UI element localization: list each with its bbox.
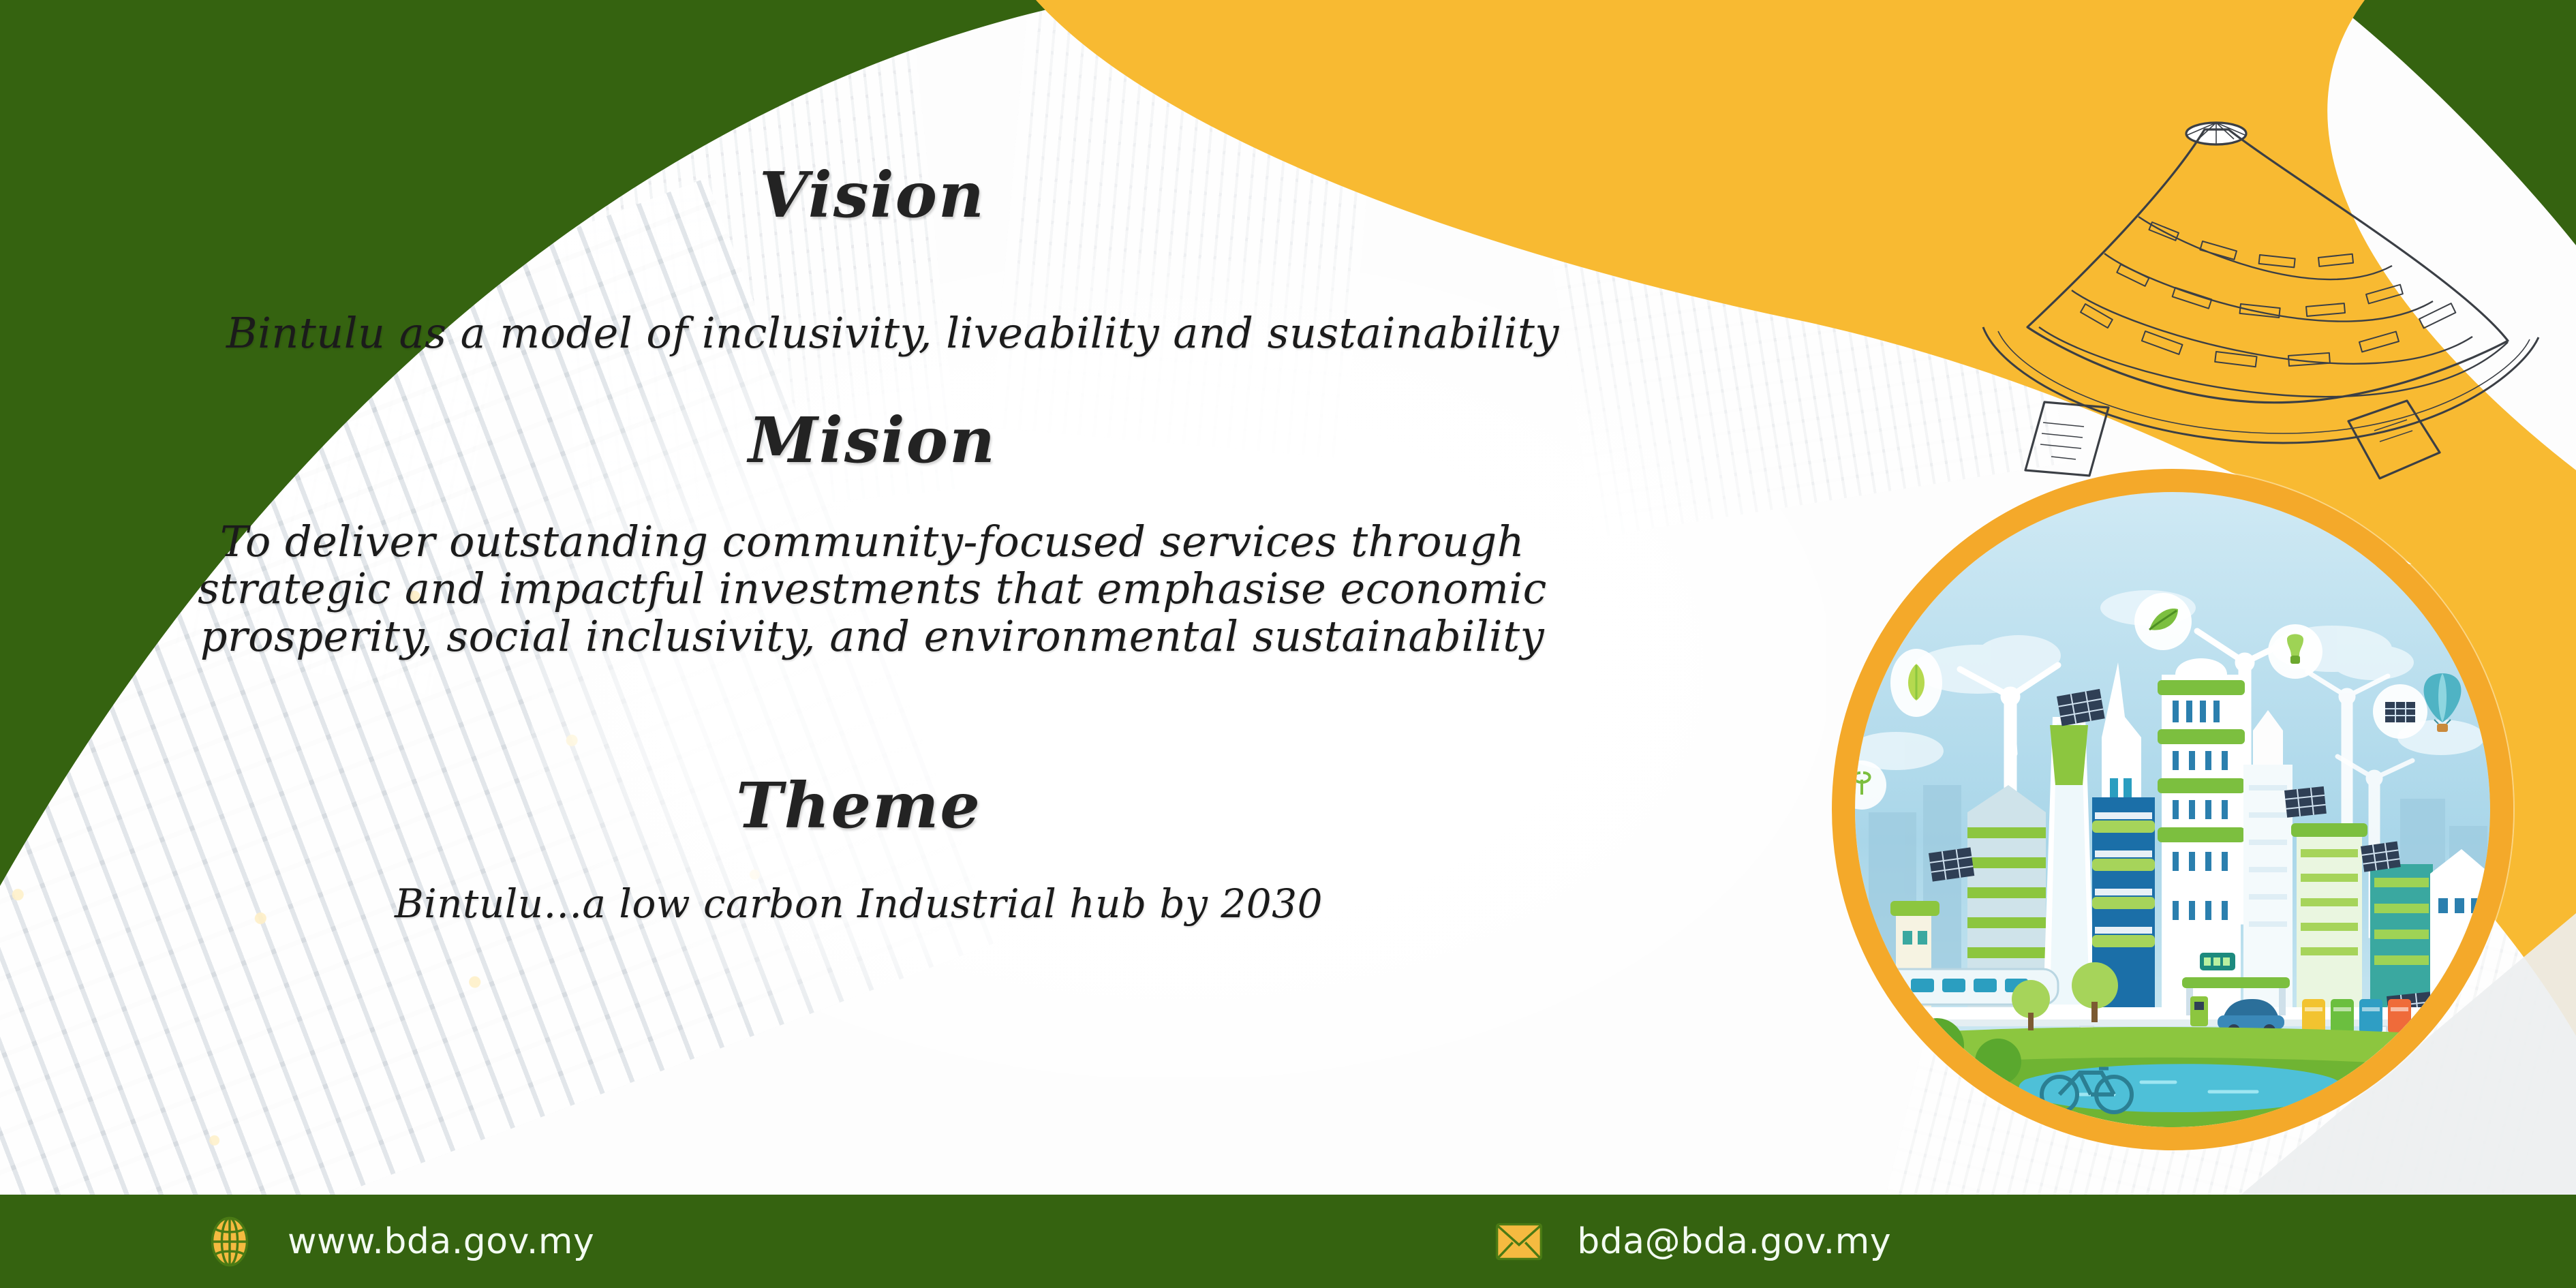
monument-windows [2081, 222, 2455, 367]
monument-tier-3 [2072, 290, 2472, 364]
website-contact[interactable]: www.bda.gov.my [204, 1216, 594, 1267]
vision-body: Bintulu as a model of inclusivity, livea… [0, 308, 1785, 358]
monument-tier-2 [2104, 254, 2433, 322]
theme-heading: Theme [0, 769, 1717, 842]
monument-building-icon [1963, 102, 2549, 484]
theme-body: Bintulu...a low carbon Industrial hub by… [0, 880, 1717, 927]
monument-base-rim [1983, 327, 2539, 443]
monument-cone [2027, 129, 2508, 403]
monument-leg-right [2348, 401, 2440, 478]
mission-body: To deliver outstanding community-focused… [0, 518, 1745, 660]
mission-heading: Mision [0, 403, 1745, 477]
vision-heading: Vision [0, 158, 1745, 232]
globe-icon [204, 1216, 255, 1267]
monument-base-rim-inner [1998, 331, 2530, 433]
footer-bar: www.bda.gov.my bda@bda.gov.my [0, 1195, 2576, 1288]
poster-canvas: Vision Bintulu as a model of inclusivity… [0, 0, 2576, 1288]
monument-tier-4 [2039, 327, 2508, 397]
monument-tier-1 [2138, 217, 2392, 279]
orange-ring [1832, 469, 2513, 1150]
mission-line-1: To deliver outstanding community-focused… [0, 518, 1745, 565]
text-content: Vision Bintulu as a model of inclusivity… [0, 0, 1840, 1159]
mission-line-3: prosperity, social inclusivity, and envi… [0, 613, 1745, 660]
monument-leg-left [2025, 402, 2109, 476]
envelope-icon [1494, 1216, 1544, 1267]
email-contact[interactable]: bda@bda.gov.my [1494, 1216, 1891, 1267]
website-label: www.bda.gov.my [288, 1221, 594, 1262]
email-label: bda@bda.gov.my [1577, 1221, 1891, 1262]
mission-line-2: strategic and impactful investments that… [0, 565, 1745, 612]
eco-city-circle [1832, 469, 2513, 1150]
